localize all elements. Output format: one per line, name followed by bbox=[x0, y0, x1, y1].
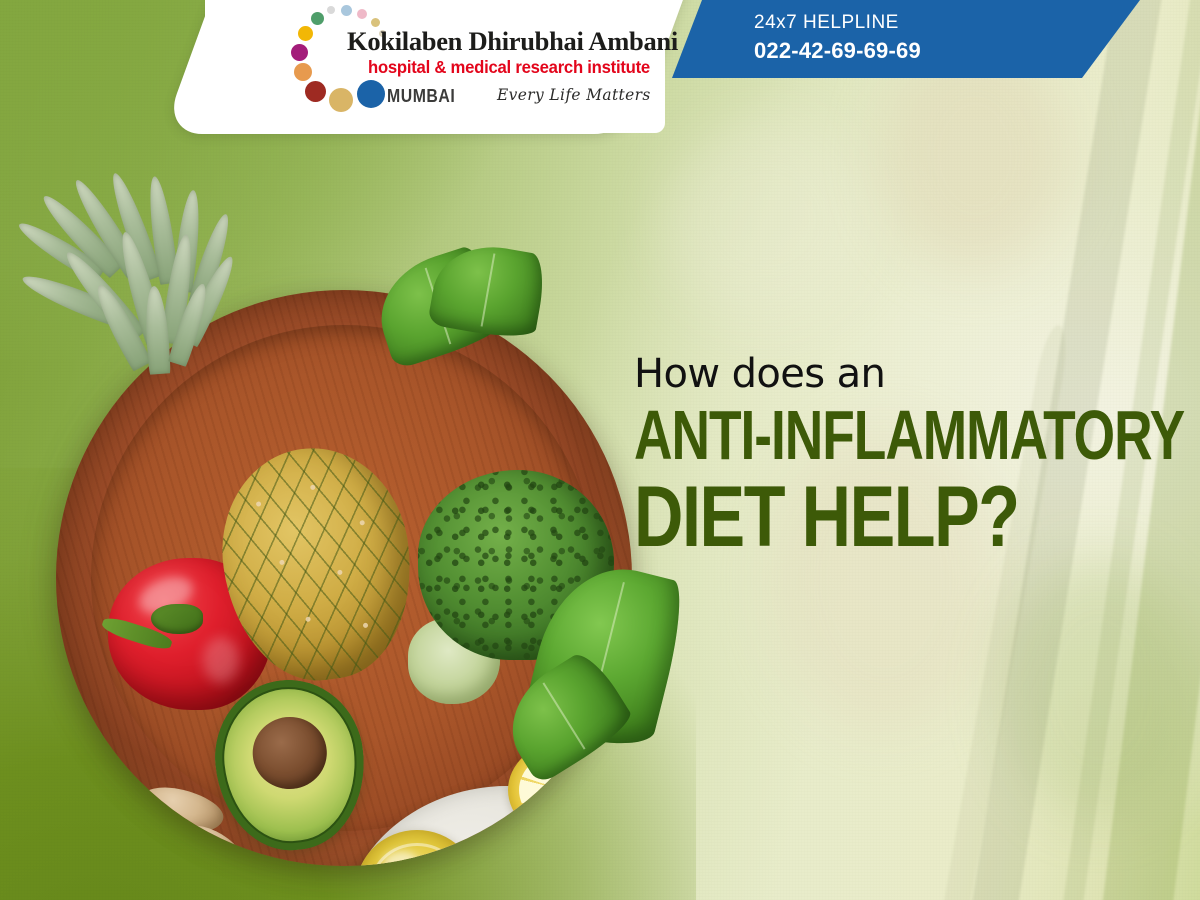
pineapple-crown bbox=[46, 168, 286, 358]
poster-canvas: Kokilaben Dhirubhai Ambani hospital & me… bbox=[0, 0, 1200, 900]
headline-eyebrow: How does an bbox=[634, 352, 1154, 396]
helpline-label: 24x7 HELPLINE bbox=[754, 12, 899, 34]
pineapple-scale-texture bbox=[209, 436, 425, 692]
helpline-banner[interactable]: 24x7 HELPLINE 022-42-69-69-69 bbox=[672, 0, 1140, 78]
headline-line-1: ANTI-INFLAMMATORY bbox=[634, 402, 1081, 471]
logo-name: Kokilaben Dhirubhai Ambani bbox=[347, 26, 678, 57]
logo-tagline: Every Life Matters bbox=[497, 86, 651, 104]
pineapple bbox=[209, 436, 425, 692]
anti-inflammatory-foods-bowl bbox=[20, 150, 660, 900]
pepper-stem bbox=[151, 604, 203, 634]
headline-line-2: DIET HELP? bbox=[634, 474, 1102, 561]
helpline-number[interactable]: 022-42-69-69-69 bbox=[754, 38, 921, 64]
wooden-bowl bbox=[56, 290, 632, 866]
headline-block: How does an ANTI-INFLAMMATORY DIET HELP? bbox=[634, 352, 1154, 550]
lemon-core bbox=[552, 780, 574, 799]
logo-city: MUMBAI bbox=[387, 86, 455, 107]
hospital-logo[interactable]: Kokilaben Dhirubhai Ambani hospital & me… bbox=[283, 4, 655, 120]
logo-subtitle: hospital & medical research institute bbox=[368, 57, 650, 78]
